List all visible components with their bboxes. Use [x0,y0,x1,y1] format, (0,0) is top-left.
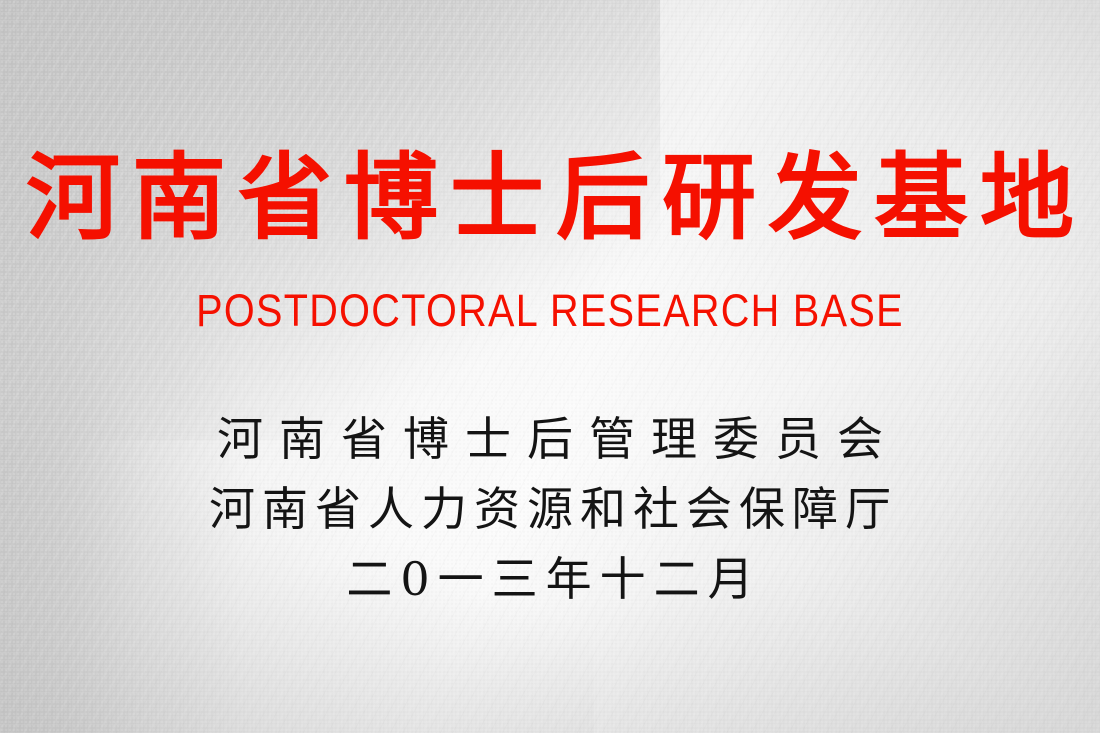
plaque-title-chinese: 河南省博士后研发基地 [0,152,1100,246]
plaque-issue-date: 二0一三年十二月 [0,556,1100,602]
plaque-issuer-line-1: 河南省博士后管理委员会 [0,416,1100,462]
plaque-content: 河南省博士后研发基地 POSTDOCTORAL RESEARCH BASE 河南… [0,0,1100,733]
postdoctoral-research-base-plaque: 河南省博士后研发基地 POSTDOCTORAL RESEARCH BASE 河南… [0,0,1100,733]
plaque-title-english: POSTDOCTORAL RESEARCH BASE [66,288,1034,333]
plaque-issuer-block: 河南省博士后管理委员会 河南省人力资源和社会保障厅 二0一三年十二月 [0,416,1100,602]
plaque-issuer-line-2: 河南省人力资源和社会保障厅 [0,486,1100,532]
